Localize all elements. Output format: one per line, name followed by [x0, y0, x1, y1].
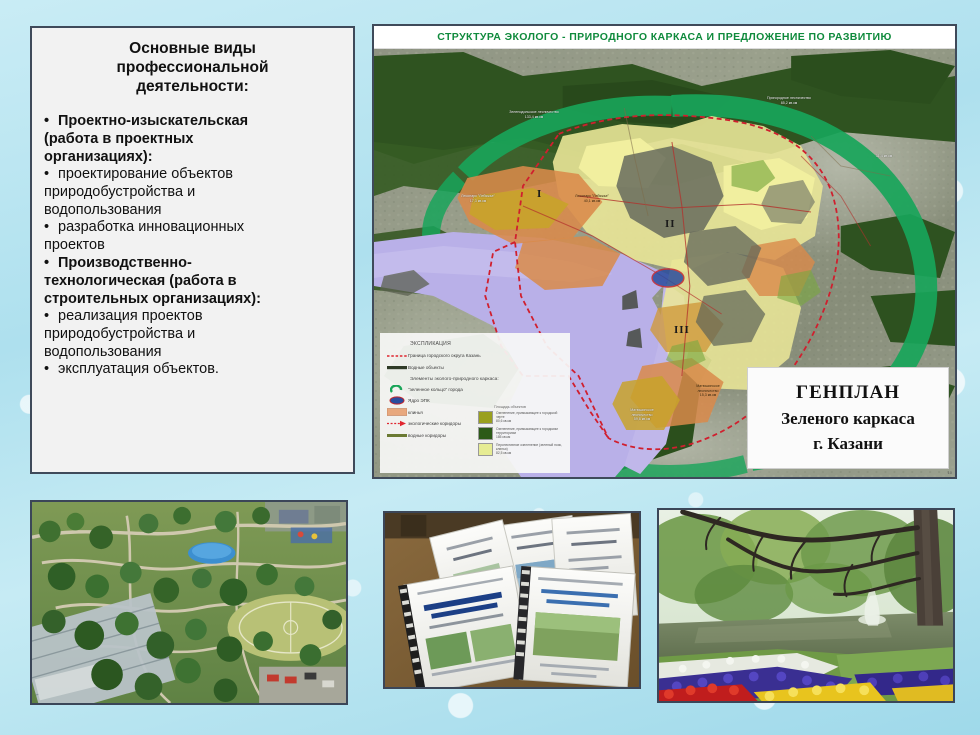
genplan-line-3: г. Казани	[813, 434, 883, 454]
legend-label-green-ring: "зеленное кольцо" города	[408, 387, 463, 392]
legend-row-water: Водные объекты	[386, 364, 564, 371]
bullet-icon: •	[44, 308, 52, 325]
panel-heading: Основные виды профессиональной деятельно…	[44, 40, 341, 97]
legend-swatch-row-2: Озеленение, примыкающее к городским терр…	[478, 427, 564, 440]
map-page-number: 10	[948, 470, 952, 475]
bullet-icon: •	[44, 361, 52, 378]
genplan-caption-box: ГЕНПЛАН Зеленого каркаса г. Казани	[747, 367, 949, 469]
swatch-light-yellow	[478, 443, 493, 456]
legend-swatch-text-1: Озеленение, примыкающее к городской черт…	[496, 411, 564, 423]
map-area-label-prigorodnoe: Пригородное лесничество85,2 кв.км	[744, 96, 834, 105]
map-area-label-zelenodolsk: Зеленодольское лесничество133,4 кв.км	[486, 110, 582, 119]
red-dashed-line-icon	[386, 352, 408, 359]
legend-title: ЭКСПЛИКАЦИЯ	[410, 341, 564, 347]
panel-heading-line-1: Основные виды	[44, 40, 341, 59]
bullet-icon: •	[44, 219, 52, 236]
legend-row-boundary: Граница городского округа Казань	[386, 352, 564, 359]
panel-bullet-item: •эксплуатация объектов.	[44, 361, 341, 378]
panel-text-line: водопользования	[44, 344, 341, 361]
map-legend: ЭКСПЛИКАЦИЯ Граница городского округа Ка…	[380, 333, 570, 473]
flower-garden-photo	[657, 508, 955, 703]
legend-label-core: Ядро ЭПК	[408, 398, 430, 403]
legend-swatch-row-1: Озеленение, примыкающее к городской черт…	[478, 411, 564, 424]
core-ellipse-icon	[386, 397, 408, 404]
legend-row-core: Ядро ЭПК	[386, 397, 564, 404]
panel-spacer	[44, 97, 341, 113]
panel-bullet-item: •проектирование объектов	[44, 166, 341, 183]
legend-row-green-ring: "зеленное кольцо" города	[386, 386, 564, 393]
legend-label-water: Водные объекты	[408, 365, 444, 370]
panel-text-line: проектов	[44, 237, 341, 254]
bullet-icon: •	[44, 255, 52, 272]
legend-label-water-corridors: водные коридоры	[408, 433, 446, 438]
map-area-label-matyushino-1: Матюшинскоелесничество15,3 кв.км	[671, 384, 745, 398]
panel-bullet-label: разработка инновационных	[58, 219, 341, 236]
swatch-dark-green	[478, 427, 493, 440]
aerial-park-photo	[30, 500, 348, 705]
map-area-label-31: 31,4 кв.км	[854, 154, 914, 159]
genplan-line-1: ГЕНПЛАН	[796, 382, 900, 404]
panel-heading-line-3: деятельности:	[44, 78, 341, 97]
legend-swatch-text-3: Перспективное озеленение (зеленый пояс, …	[496, 443, 564, 455]
red-arrow-icon	[386, 420, 408, 427]
legend-area-swatches: Площадь объектов Озеленение, примыкающее…	[478, 405, 564, 459]
panel-text-line: водопользования	[44, 202, 341, 219]
bullet-icon: •	[44, 113, 52, 130]
panel-text-line: технологическая (работа в	[44, 273, 341, 290]
genplan-line-2: Зеленого каркаса	[781, 409, 915, 429]
panel-bullet-label: проектирование объектов	[58, 166, 341, 183]
panel-bullet-item: •Производственно-	[44, 255, 341, 272]
green-ring-icon	[386, 386, 408, 393]
map-roman-marker-1: I	[537, 188, 542, 200]
panel-text-line: природобустройства и	[44, 184, 341, 201]
panel-heading-line-2: профессиональной	[44, 59, 341, 78]
panel-text-line: (работа в проектных	[44, 131, 341, 148]
panel-bullet-label: Производственно-	[58, 255, 341, 272]
legend-swatch-row-3: Перспективное озеленение (зеленый пояс, …	[478, 443, 564, 456]
panel-bullet-label: эксплуатация объектов.	[58, 361, 341, 378]
panel-bullet-item: •реализация проектов	[44, 308, 341, 325]
swatch-olive	[478, 411, 493, 424]
legend-label-eco-corridors: экологические коридоры	[408, 421, 461, 426]
map-area-label-lebyazhye-1: Лесопарк "Лебяжье"17,3 кв.км	[436, 194, 520, 203]
panel-text-line: строительных организациях):	[44, 291, 341, 308]
legend-label-wedges: клинья	[408, 410, 423, 415]
panel-bullet-label: Проектно-изыскательская	[58, 113, 341, 130]
reports-photo	[383, 511, 641, 689]
panel-bullet-item: •Проектно-изыскательская	[44, 113, 341, 130]
panel-bullet-label: реализация проектов	[58, 308, 341, 325]
panel-text-line: природобустройства и	[44, 326, 341, 343]
panel-text-line: организациях):	[44, 149, 341, 166]
map-card: СТРУКТУРА ЭКОЛОГО - ПРИРОДНОГО КАРКАСА И…	[372, 24, 957, 479]
panel-bullet-item: •разработка инновационных	[44, 219, 341, 236]
map-roman-marker-2: II	[665, 218, 676, 230]
panel-body: •Проектно-изыскательская(работа в проект…	[44, 113, 341, 379]
legend-swatch-text-2: Озеленение, примыкающее к городским терр…	[496, 427, 564, 439]
map-banner-title: СТРУКТУРА ЭКОЛОГО - ПРИРОДНОГО КАРКАСА И…	[374, 26, 955, 49]
legend-swatch-header: Площадь объектов	[494, 405, 564, 409]
map-area-label-lebyazhye-2: Лесопарк "Лебяжье"40,1 кв.км	[549, 194, 635, 203]
map-area-label-matyushino-2: Матюшинскоелесничество59,6 кв.км	[606, 408, 678, 422]
legend-label-boundary: Граница городского округа Казань	[408, 353, 481, 358]
orange-box-icon	[386, 409, 408, 416]
legend-subtitle: Элементы эколого-природного каркаса:	[410, 377, 564, 382]
dark-bar-icon	[386, 364, 408, 371]
map-roman-marker-3: III	[674, 324, 690, 336]
olive-bar-icon	[386, 432, 408, 439]
bullet-icon: •	[44, 166, 52, 183]
professional-activities-panel: Основные виды профессиональной деятельно…	[30, 26, 355, 474]
